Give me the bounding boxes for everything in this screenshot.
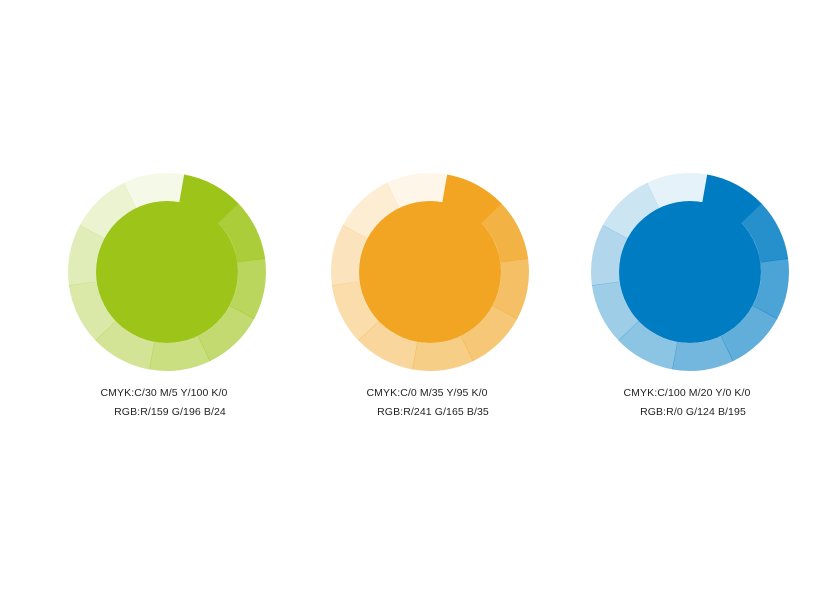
rgb-value-green: RGB:R/159 G/196 B/24: [37, 403, 297, 422]
cmyk-value-blue: CMYK:C/100 M/20 Y/0 K/0: [560, 384, 820, 403]
color-palette-board: CMYK:C/30 M/5 Y/100 K/0 RGB:R/159 G/196 …: [0, 0, 838, 597]
wheel-core-disc: [619, 201, 761, 343]
color-swatch-blue: CMYK:C/100 M/20 Y/0 K/0 RGB:R/0 G/124 B/…: [560, 172, 820, 442]
color-swatch-green: CMYK:C/30 M/5 Y/100 K/0 RGB:R/159 G/196 …: [37, 172, 297, 442]
color-values-orange: CMYK:C/0 M/35 Y/95 K/0 RGB:R/241 G/165 B…: [300, 384, 560, 422]
wheel-core-disc: [359, 201, 501, 343]
color-swatch-orange: CMYK:C/0 M/35 Y/95 K/0 RGB:R/241 G/165 B…: [300, 172, 560, 442]
wheel-core-disc: [96, 201, 238, 343]
color-wheel-orange: [300, 172, 560, 372]
cmyk-value-orange: CMYK:C/0 M/35 Y/95 K/0: [300, 384, 560, 403]
color-wheel-icon: [300, 172, 560, 372]
rgb-value-orange: RGB:R/241 G/165 B/35: [300, 403, 560, 422]
color-values-blue: CMYK:C/100 M/20 Y/0 K/0 RGB:R/0 G/124 B/…: [560, 384, 820, 422]
color-wheel-icon: [560, 172, 820, 372]
color-wheel-blue: [560, 172, 820, 372]
color-wheel-icon: [37, 172, 297, 372]
color-values-green: CMYK:C/30 M/5 Y/100 K/0 RGB:R/159 G/196 …: [37, 384, 297, 422]
rgb-value-blue: RGB:R/0 G/124 B/195: [560, 403, 820, 422]
cmyk-value-green: CMYK:C/30 M/5 Y/100 K/0: [37, 384, 297, 403]
color-wheel-green: [37, 172, 297, 372]
